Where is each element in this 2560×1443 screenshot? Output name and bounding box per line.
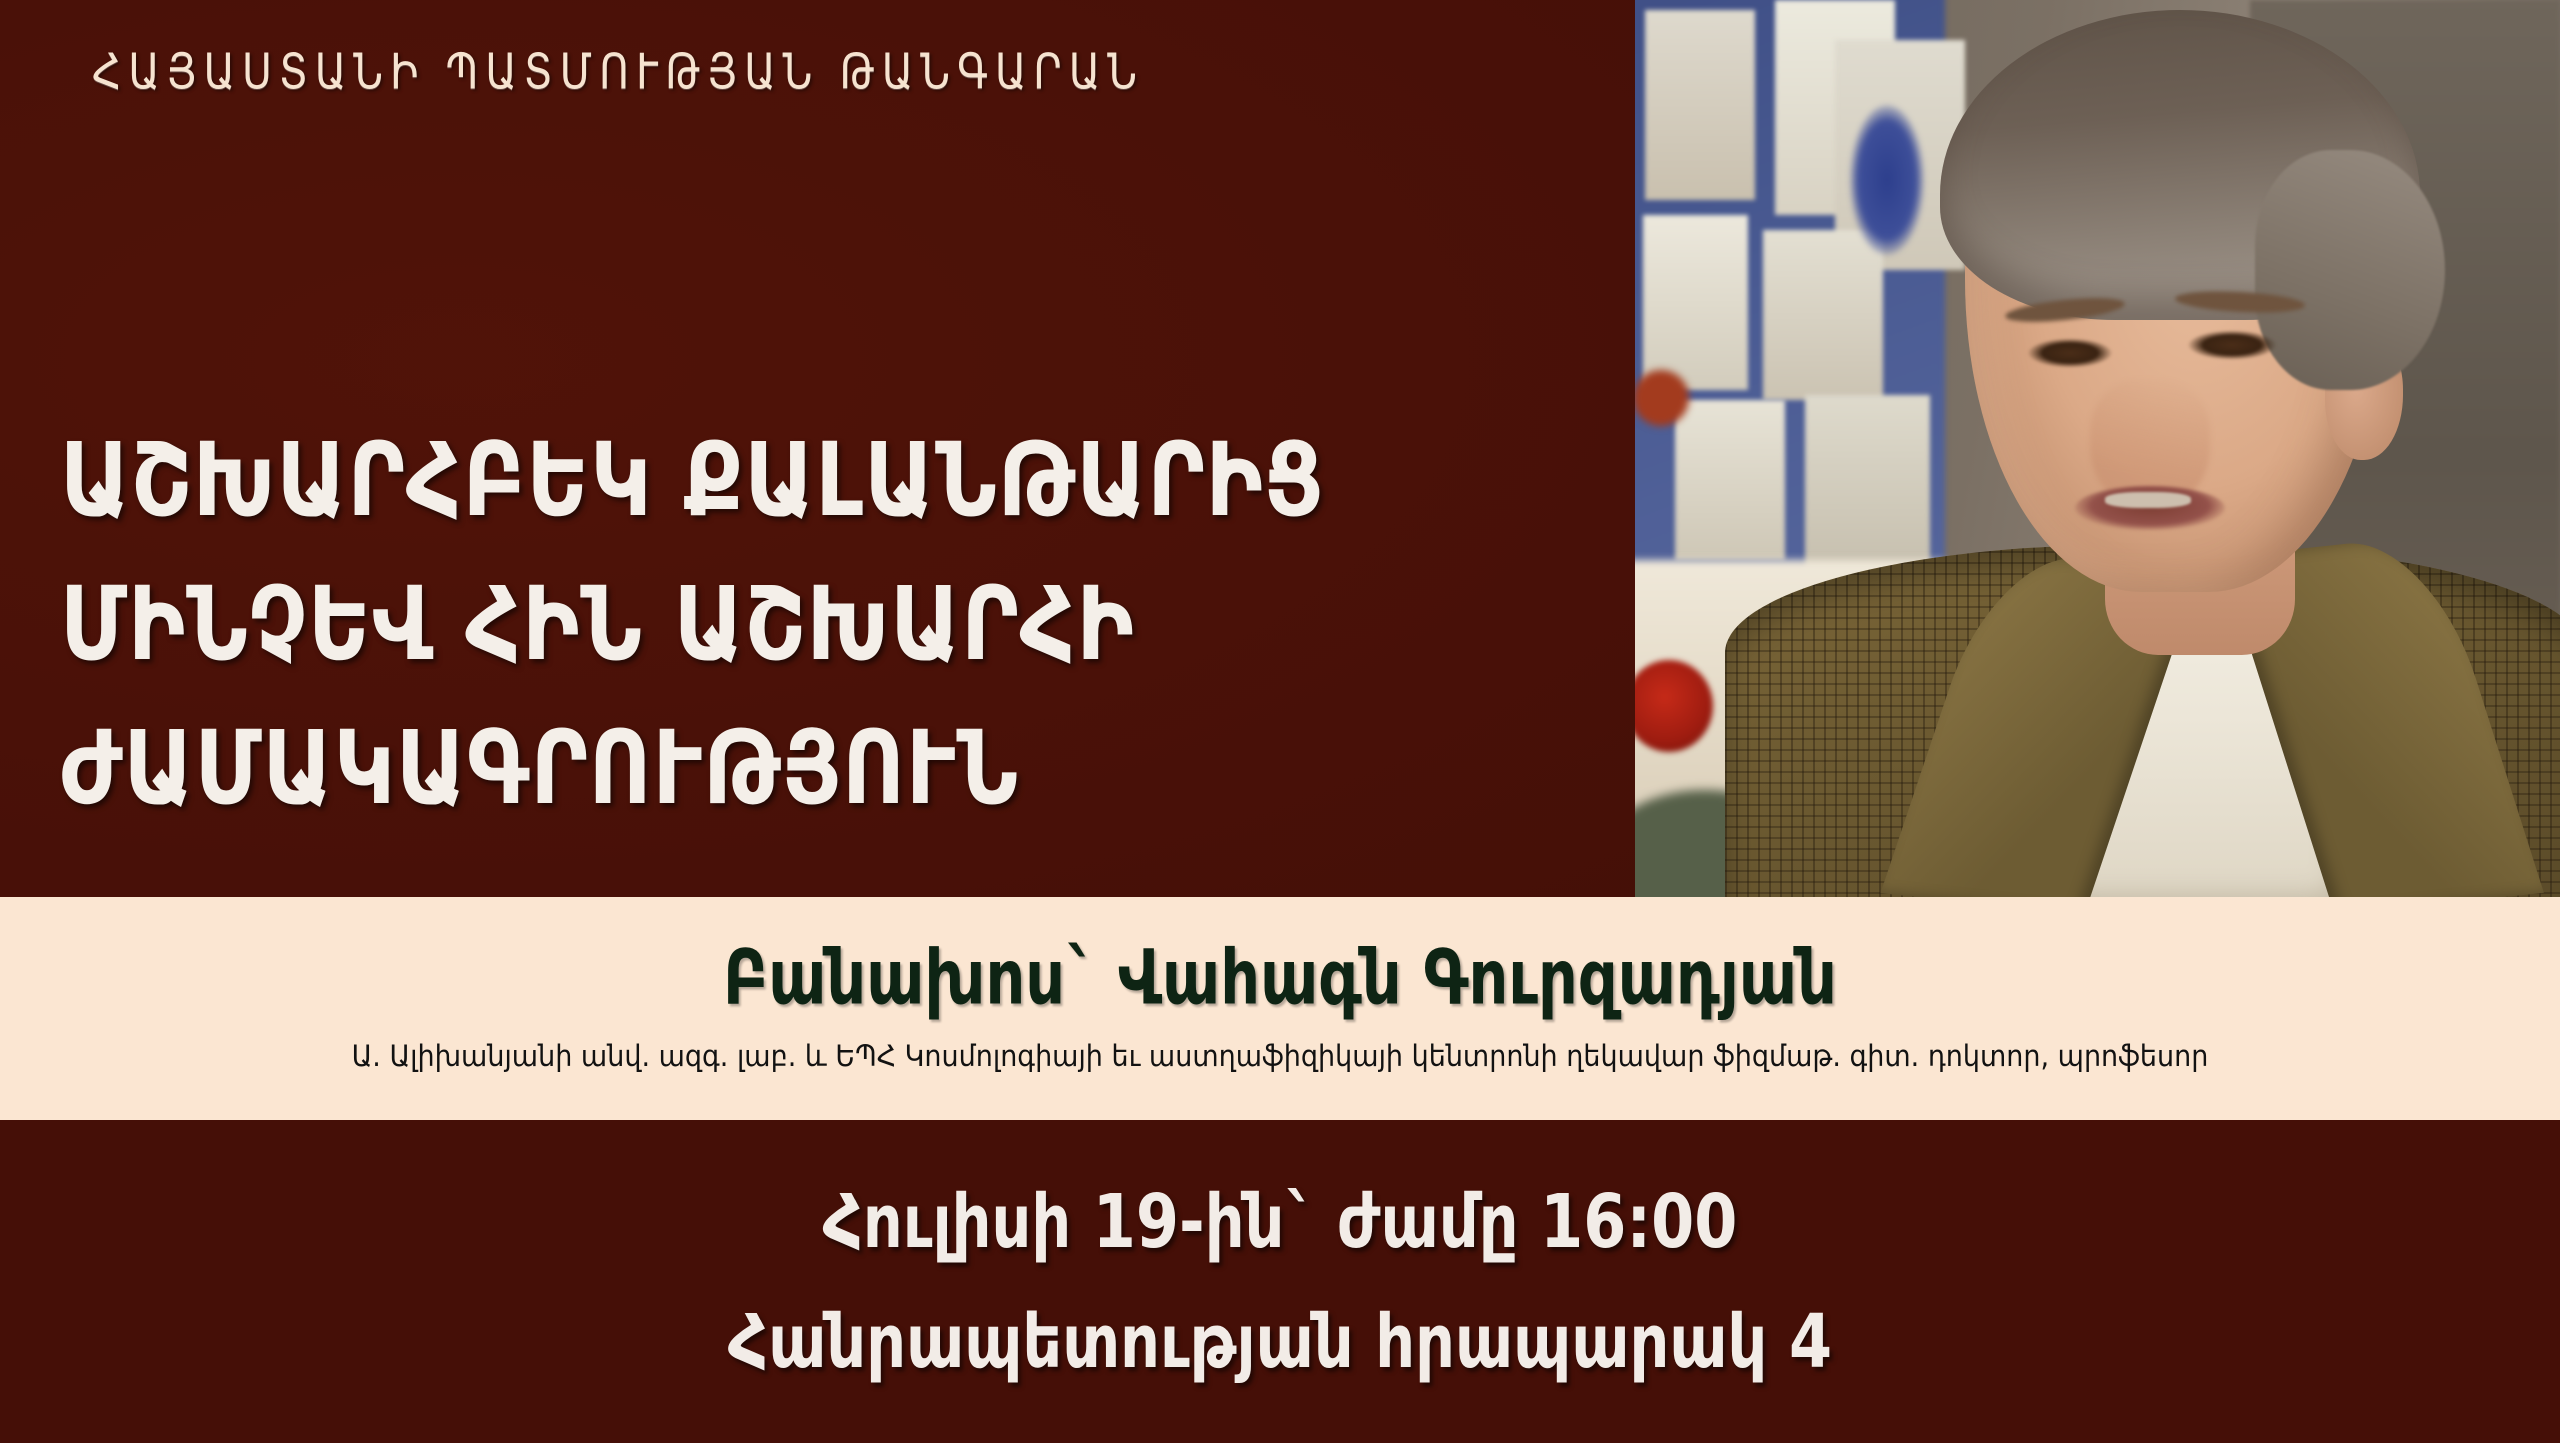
photo-eye-left xyxy=(2027,338,2113,368)
photo-red-ornament xyxy=(1635,370,1689,426)
title-line-3: ԺԱՄԱԿԱԳՐՈՒԹՅՈՒՆ xyxy=(60,718,1600,819)
event-details-section: Հուլիսի 19-ին` ժամը 16:00 Հանրապետության… xyxy=(0,1120,2560,1443)
photo-poster-4 xyxy=(1643,215,1748,390)
museum-wordmark: ՀԱՅԱՍՏԱՆԻ ՊԱՏՄՈՒԹՅԱՆ ԹԱՆԳԱՐԱՆ xyxy=(92,48,1144,97)
photo-poster-7 xyxy=(1805,395,1930,570)
speaker-name: Բանախոս` Վահագն Գուրզադյան xyxy=(723,940,1837,1016)
event-poster: ՀԱՅԱՍՏԱՆԻ ՊԱՏՄՈՒԹՅԱՆ ԹԱՆԳԱՐԱՆ ԱՇԽԱՐՀԲԵԿ … xyxy=(0,0,2560,1443)
photo-blue-graphic xyxy=(1850,105,1924,255)
photo-poster-1 xyxy=(1645,10,1755,200)
title-line-2: ՄԻՆՉԵՎ ՀԻՆ ԱՇԽԱՐՀԻ xyxy=(60,574,1600,675)
speaker-band: Բանախոս` Վահագն Գուրզադյան Ա. Ալիխանյանի… xyxy=(0,897,2560,1120)
photo-hair-side xyxy=(2255,150,2445,390)
event-venue: Հանրապետության հրապարակ 4 xyxy=(728,1304,1832,1378)
speaker-affiliation: Ա. Ալիխանյանի անվ. ազգ. լաբ. և ԵՊՀ Կոսմո… xyxy=(352,1042,2209,1072)
photo-teeth xyxy=(2105,492,2191,508)
photo-poster-6 xyxy=(1675,400,1785,560)
photo-poster-5 xyxy=(1763,230,1883,400)
poster-title: ԱՇԽԱՐՀԲԵԿ ՔԱԼԱՆԹԱՐԻՑ ՄԻՆՉԵՎ ՀԻՆ ԱՇԽԱՐՀԻ … xyxy=(60,430,1600,804)
speaker-photo xyxy=(1635,0,2560,897)
title-line-1: ԱՇԽԱՐՀԲԵԿ ՔԱԼԱՆԹԱՐԻՑ xyxy=(60,430,1600,531)
event-datetime: Հուլիսի 19-ին` ժամը 16:00 xyxy=(823,1184,1738,1258)
photo-eye-right xyxy=(2187,330,2277,360)
